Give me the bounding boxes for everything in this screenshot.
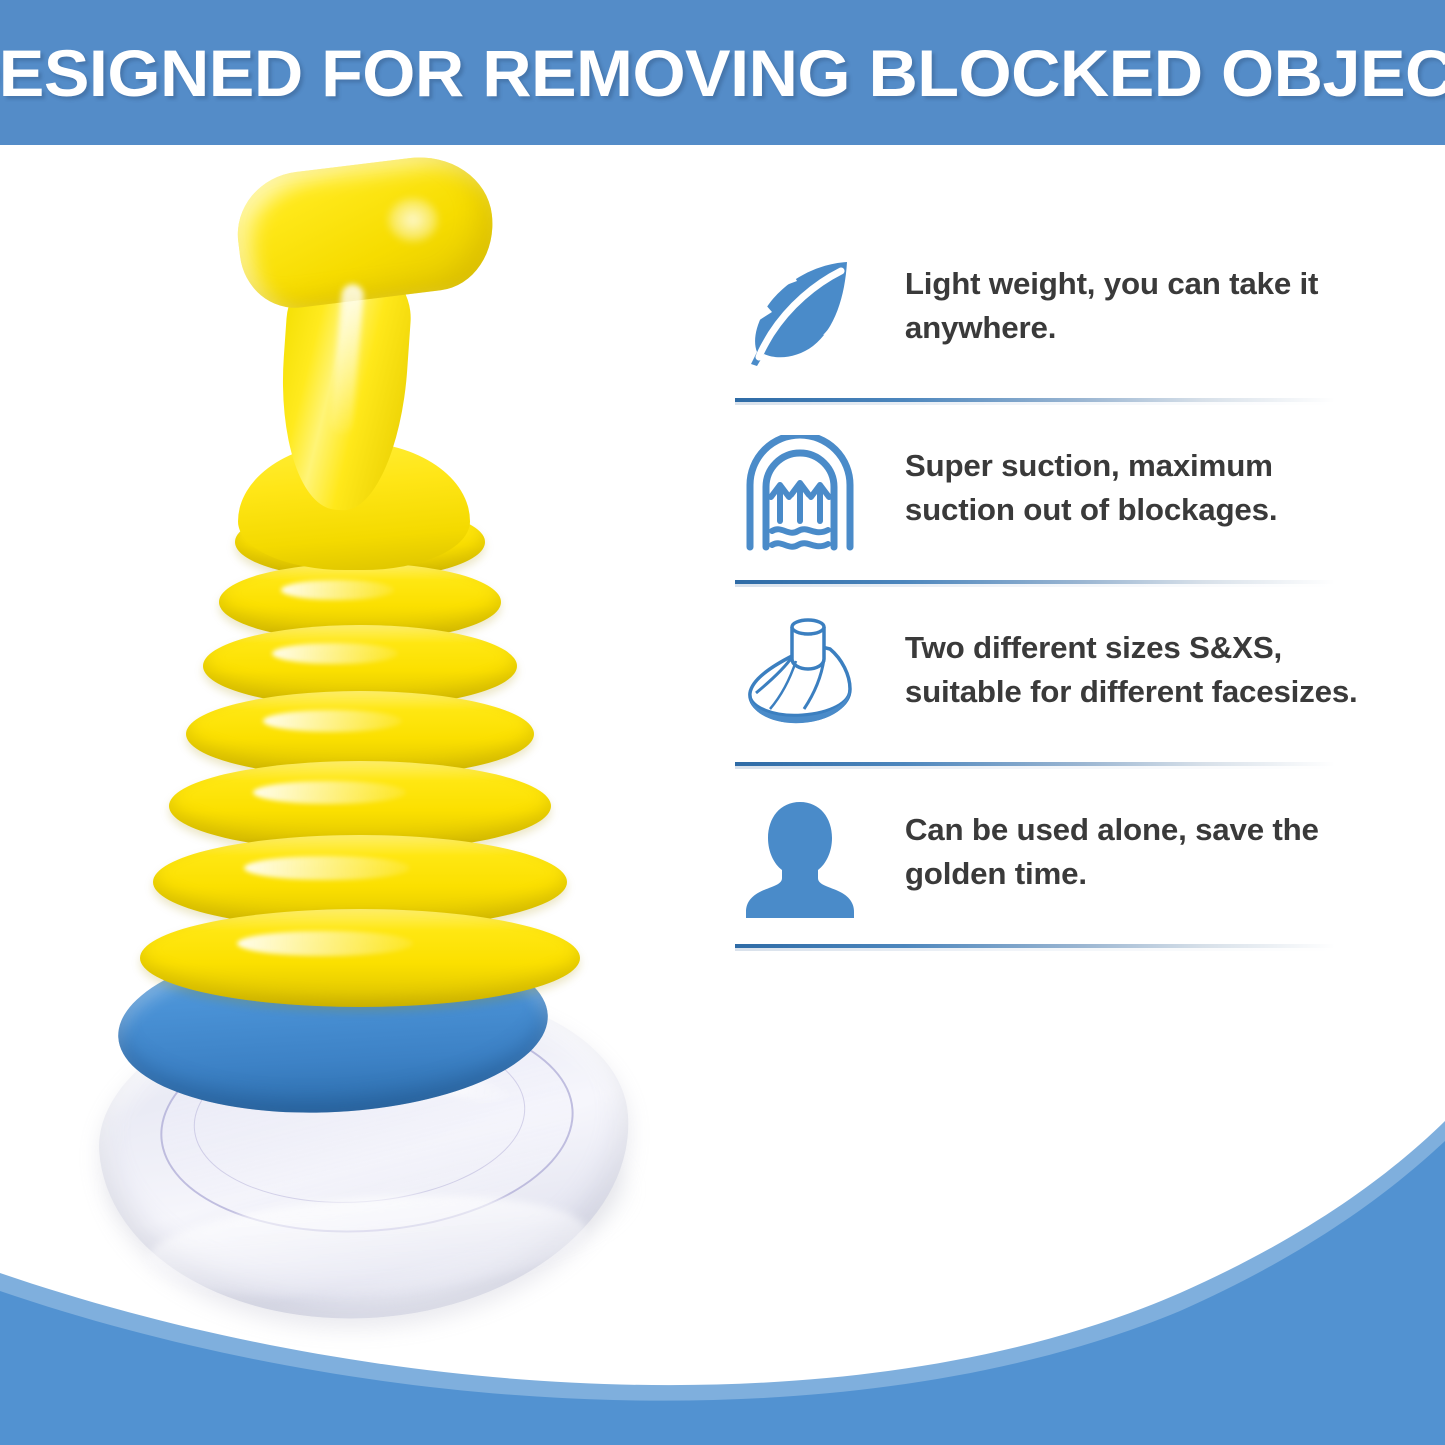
- ring-highlight: [244, 856, 410, 880]
- ring-highlight: [281, 580, 394, 600]
- page-title: DESIGNED FOR REMOVING BLOCKED OBJECT: [0, 0, 1445, 145]
- feature-divider: [735, 762, 1335, 766]
- feature-text: Can be used alone, save the golden time.: [862, 794, 1377, 896]
- feature-divider: [735, 944, 1335, 948]
- handle-knob: [231, 149, 501, 314]
- person-silhouette-icon: [735, 794, 865, 924]
- product-image: [40, 150, 700, 1310]
- suction-arch-icon: [735, 430, 865, 560]
- feature-item: Super suction, maximum suction out of bl…: [735, 430, 1375, 580]
- feature-divider: [735, 580, 1335, 584]
- feature-text: Super suction, maximum suction out of bl…: [862, 430, 1377, 532]
- ring-highlight: [237, 931, 413, 956]
- feature-item: Light weight, you can take it anywhere.: [735, 248, 1375, 398]
- feature-item: Can be used alone, save the golden time.: [735, 794, 1375, 944]
- infographic-page: DESIGNED FOR REMOVING BLOCKED OBJECT: [0, 0, 1445, 1445]
- bellows-stack: [130, 505, 590, 975]
- ring-highlight: [263, 710, 402, 732]
- feature-list: Light weight, you can take it anywhere.: [735, 248, 1375, 976]
- ring-highlight: [253, 781, 406, 804]
- header-band: DESIGNED FOR REMOVING BLOCKED OBJECT: [0, 0, 1445, 145]
- ring-highlight: [272, 643, 398, 664]
- feature-divider: [735, 398, 1335, 402]
- bellows-ring: [140, 909, 580, 1007]
- yellow-handle: [220, 164, 490, 544]
- feature-text: Two different sizes S&XS, suitable for d…: [862, 612, 1377, 714]
- feather-icon: [735, 248, 865, 378]
- handle-highlight-knob: [388, 198, 438, 242]
- feature-text: Light weight, you can take it anywhere.: [862, 248, 1377, 350]
- feature-item: Two different sizes S&XS, suitable for d…: [735, 612, 1375, 762]
- face-mask-icon: [735, 612, 865, 742]
